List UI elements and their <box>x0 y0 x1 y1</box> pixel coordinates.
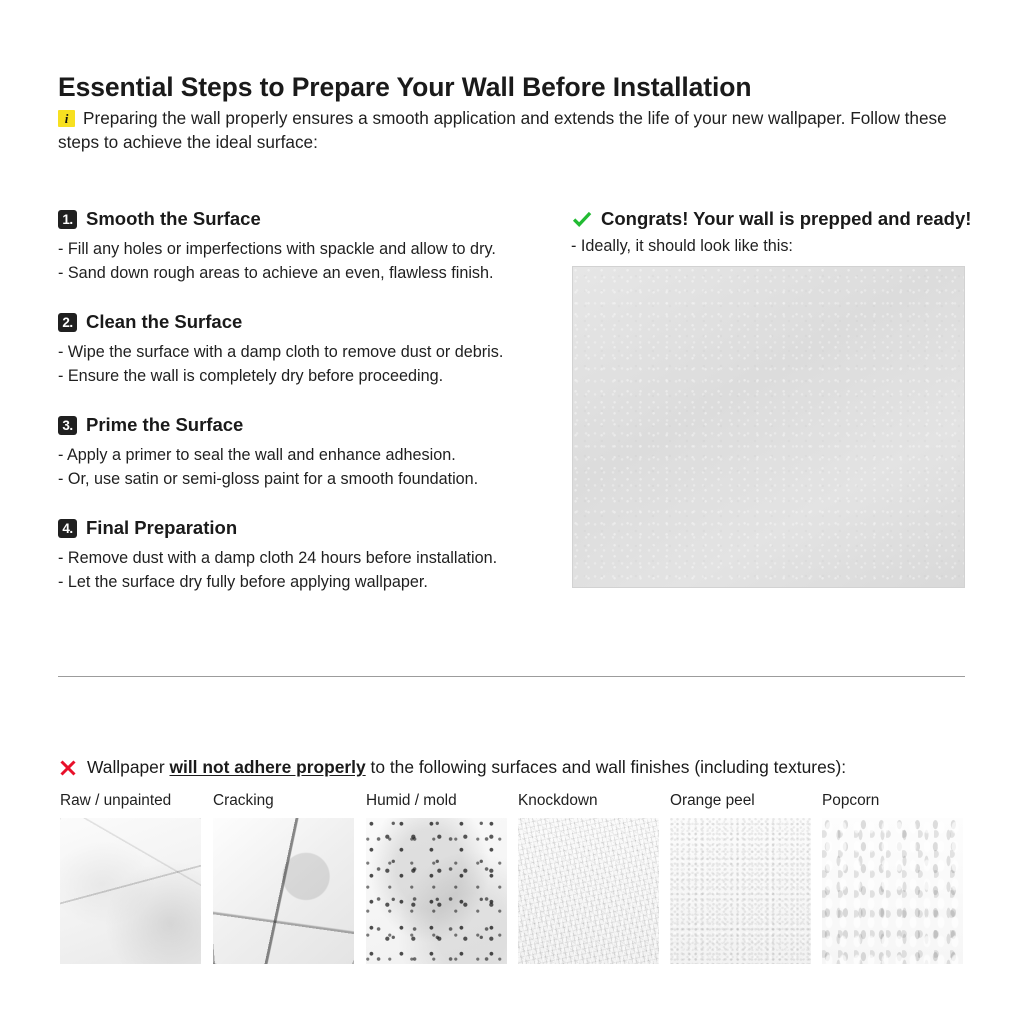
red-x-icon <box>58 758 78 778</box>
thumbnail-item: Raw / unpainted <box>60 792 201 964</box>
step-line: - Apply a primer to seal the wall and en… <box>58 443 558 467</box>
prepped-wall-image <box>572 266 965 588</box>
step-title: Prime the Surface <box>86 414 243 436</box>
step-title: Final Preparation <box>86 517 237 539</box>
warning-text-emphasis: will not adhere properly <box>169 757 365 777</box>
thumbnail-label: Humid / mold <box>366 792 507 810</box>
thumbnail-label: Raw / unpainted <box>60 792 201 810</box>
thumbnail-image-knockdown <box>518 818 659 964</box>
step-number-badge: 4. <box>58 519 77 538</box>
warning-text-before: Wallpaper <box>87 757 169 777</box>
step-line: - Let the surface dry fully before apply… <box>58 570 558 594</box>
step-header: 1. Smooth the Surface <box>58 208 558 230</box>
step-header: 4. Final Preparation <box>58 517 558 539</box>
thumbnail-image-cracking <box>213 818 354 964</box>
steps-list: 1. Smooth the Surface - Fill any holes o… <box>58 208 558 594</box>
thumbnail-label: Knockdown <box>518 792 659 810</box>
step-item: 4. Final Preparation - Remove dust with … <box>58 517 558 594</box>
step-title: Smooth the Surface <box>86 208 261 230</box>
step-line: - Or, use satin or semi-gloss paint for … <box>58 467 558 491</box>
thumbnail-item: Orange peel <box>670 792 811 964</box>
step-number-badge: 2. <box>58 313 77 332</box>
congrats-title: Congrats! Your wall is prepped and ready… <box>601 208 971 230</box>
step-line: - Remove dust with a damp cloth 24 hours… <box>58 546 558 570</box>
step-line: - Sand down rough areas to achieve an ev… <box>58 261 558 285</box>
step-item: 2. Clean the Surface - Wipe the surface … <box>58 311 558 388</box>
intro-text: Preparing the wall properly ensures a sm… <box>58 108 947 152</box>
warning-text: Wallpaper will not adhere properly to th… <box>87 757 846 778</box>
thumbnail-label: Orange peel <box>670 792 811 810</box>
congrats-header: Congrats! Your wall is prepped and ready… <box>571 208 971 230</box>
step-number-badge: 1. <box>58 210 77 229</box>
thumbnail-image-popcorn <box>822 818 963 964</box>
warning-header: Wallpaper will not adhere properly to th… <box>58 757 846 778</box>
step-line: - Ensure the wall is completely dry befo… <box>58 364 558 388</box>
info-icon: i <box>58 110 75 127</box>
prepped-wall-panel: Congrats! Your wall is prepped and ready… <box>571 208 971 265</box>
step-title: Clean the Surface <box>86 311 242 333</box>
step-item: 1. Smooth the Surface - Fill any holes o… <box>58 208 558 285</box>
thumbnail-label: Popcorn <box>822 792 963 810</box>
step-line: - Wipe the surface with a damp cloth to … <box>58 340 558 364</box>
step-item: 3. Prime the Surface - Apply a primer to… <box>58 414 558 491</box>
thumbnail-item: Cracking <box>213 792 354 964</box>
congrats-subtitle: - Ideally, it should look like this: <box>571 235 971 257</box>
page-title: Essential Steps to Prepare Your Wall Bef… <box>58 72 751 103</box>
step-header: 3. Prime the Surface <box>58 414 558 436</box>
thumbnail-item: Popcorn <box>822 792 963 964</box>
intro-paragraph: iPreparing the wall properly ensures a s… <box>58 106 978 154</box>
thumbnail-item: Humid / mold <box>366 792 507 964</box>
thumbnail-item: Knockdown <box>518 792 659 964</box>
thumbnail-image-raw-unpainted <box>60 818 201 964</box>
section-divider <box>58 676 965 677</box>
step-line: - Fill any holes or imperfections with s… <box>58 237 558 261</box>
thumbnail-label: Cracking <box>213 792 354 810</box>
green-check-icon <box>571 208 593 230</box>
step-header: 2. Clean the Surface <box>58 311 558 333</box>
warning-text-after: to the following surfaces and wall finis… <box>366 757 846 777</box>
step-number-badge: 3. <box>58 416 77 435</box>
thumbnail-image-humid-mold <box>366 818 507 964</box>
thumbnail-image-orange-peel <box>670 818 811 964</box>
document-page: Essential Steps to Prepare Your Wall Bef… <box>0 0 1024 1024</box>
